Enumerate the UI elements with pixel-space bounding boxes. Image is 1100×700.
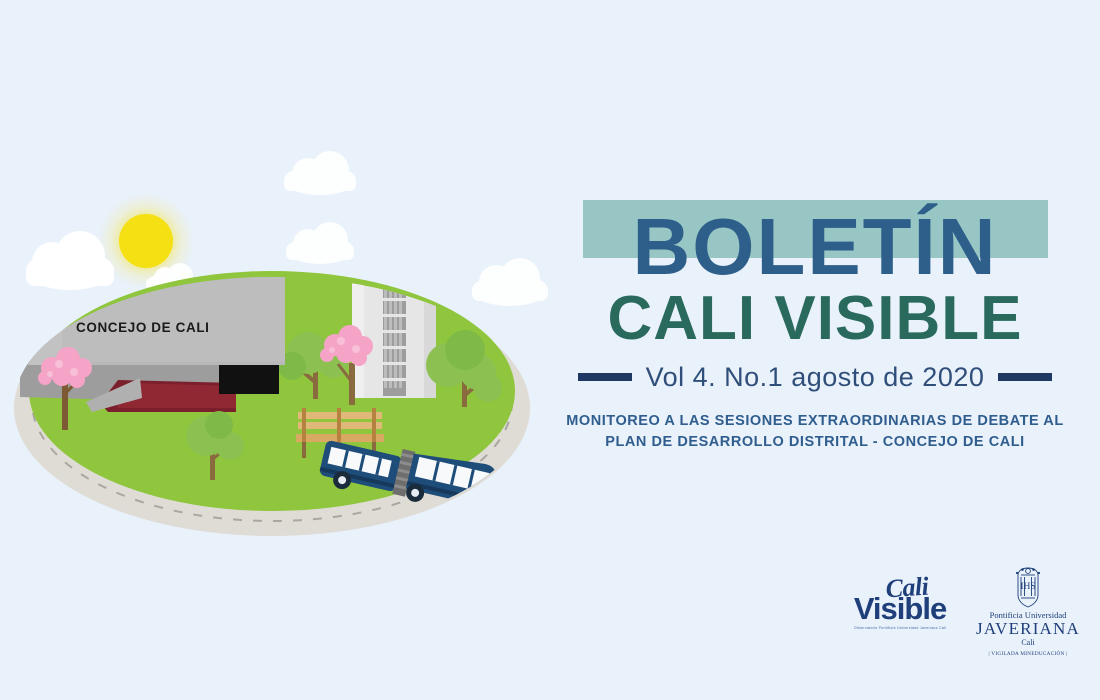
logo-row: Cali Visible Observatorio Pontificia Uni… <box>845 565 1090 660</box>
tagline-line-2: PLAN DE DESARROLLO DISTRITAL - CONCEJO D… <box>560 432 1070 453</box>
tagline: MONITOREO A LAS SESIONES EXTRAORDINARIAS… <box>560 411 1070 453</box>
javeriana-shield-icon: IHS <box>1000 565 1056 609</box>
city-illustration: CONCEJO DE CALI <box>0 150 560 570</box>
tagline-line-1: MONITOREO A LAS SESIONES EXTRAORDINARIAS… <box>560 411 1070 432</box>
cali-visible-tagline: Observatorio Pontificia Universidad Jave… <box>845 626 955 630</box>
page-subtitle: CALI VISIBLE <box>560 288 1070 350</box>
boletin-cover: CONCEJO DE CALI <box>0 0 1100 700</box>
cali-visible-logo: Cali Visible Observatorio Pontificia Uni… <box>845 565 955 630</box>
svg-text:IHS: IHS <box>1020 582 1035 592</box>
volume-row: Vol 4. No.1 agosto de 2020 <box>560 362 1070 393</box>
dash-right-decoration <box>998 373 1052 381</box>
javeriana-line-3: Cali <box>973 638 1083 647</box>
javeriana-logo: IHS Pontificia Universidad JAVERIANA Cal… <box>973 565 1083 657</box>
javeriana-line-2: JAVERIANA <box>973 620 1083 638</box>
dash-left-decoration <box>578 373 632 381</box>
title-block: BOLETÍN CALI VISIBLE Vol 4. No.1 agosto … <box>560 190 1070 453</box>
volume-text: Vol 4. No.1 agosto de 2020 <box>646 362 985 393</box>
javeriana-line-4: | VIGILADA MINEDUCACIÓN | <box>973 651 1083 657</box>
building-label: CONCEJO DE CALI <box>76 320 210 335</box>
page-title: BOLETÍN <box>560 214 1070 280</box>
